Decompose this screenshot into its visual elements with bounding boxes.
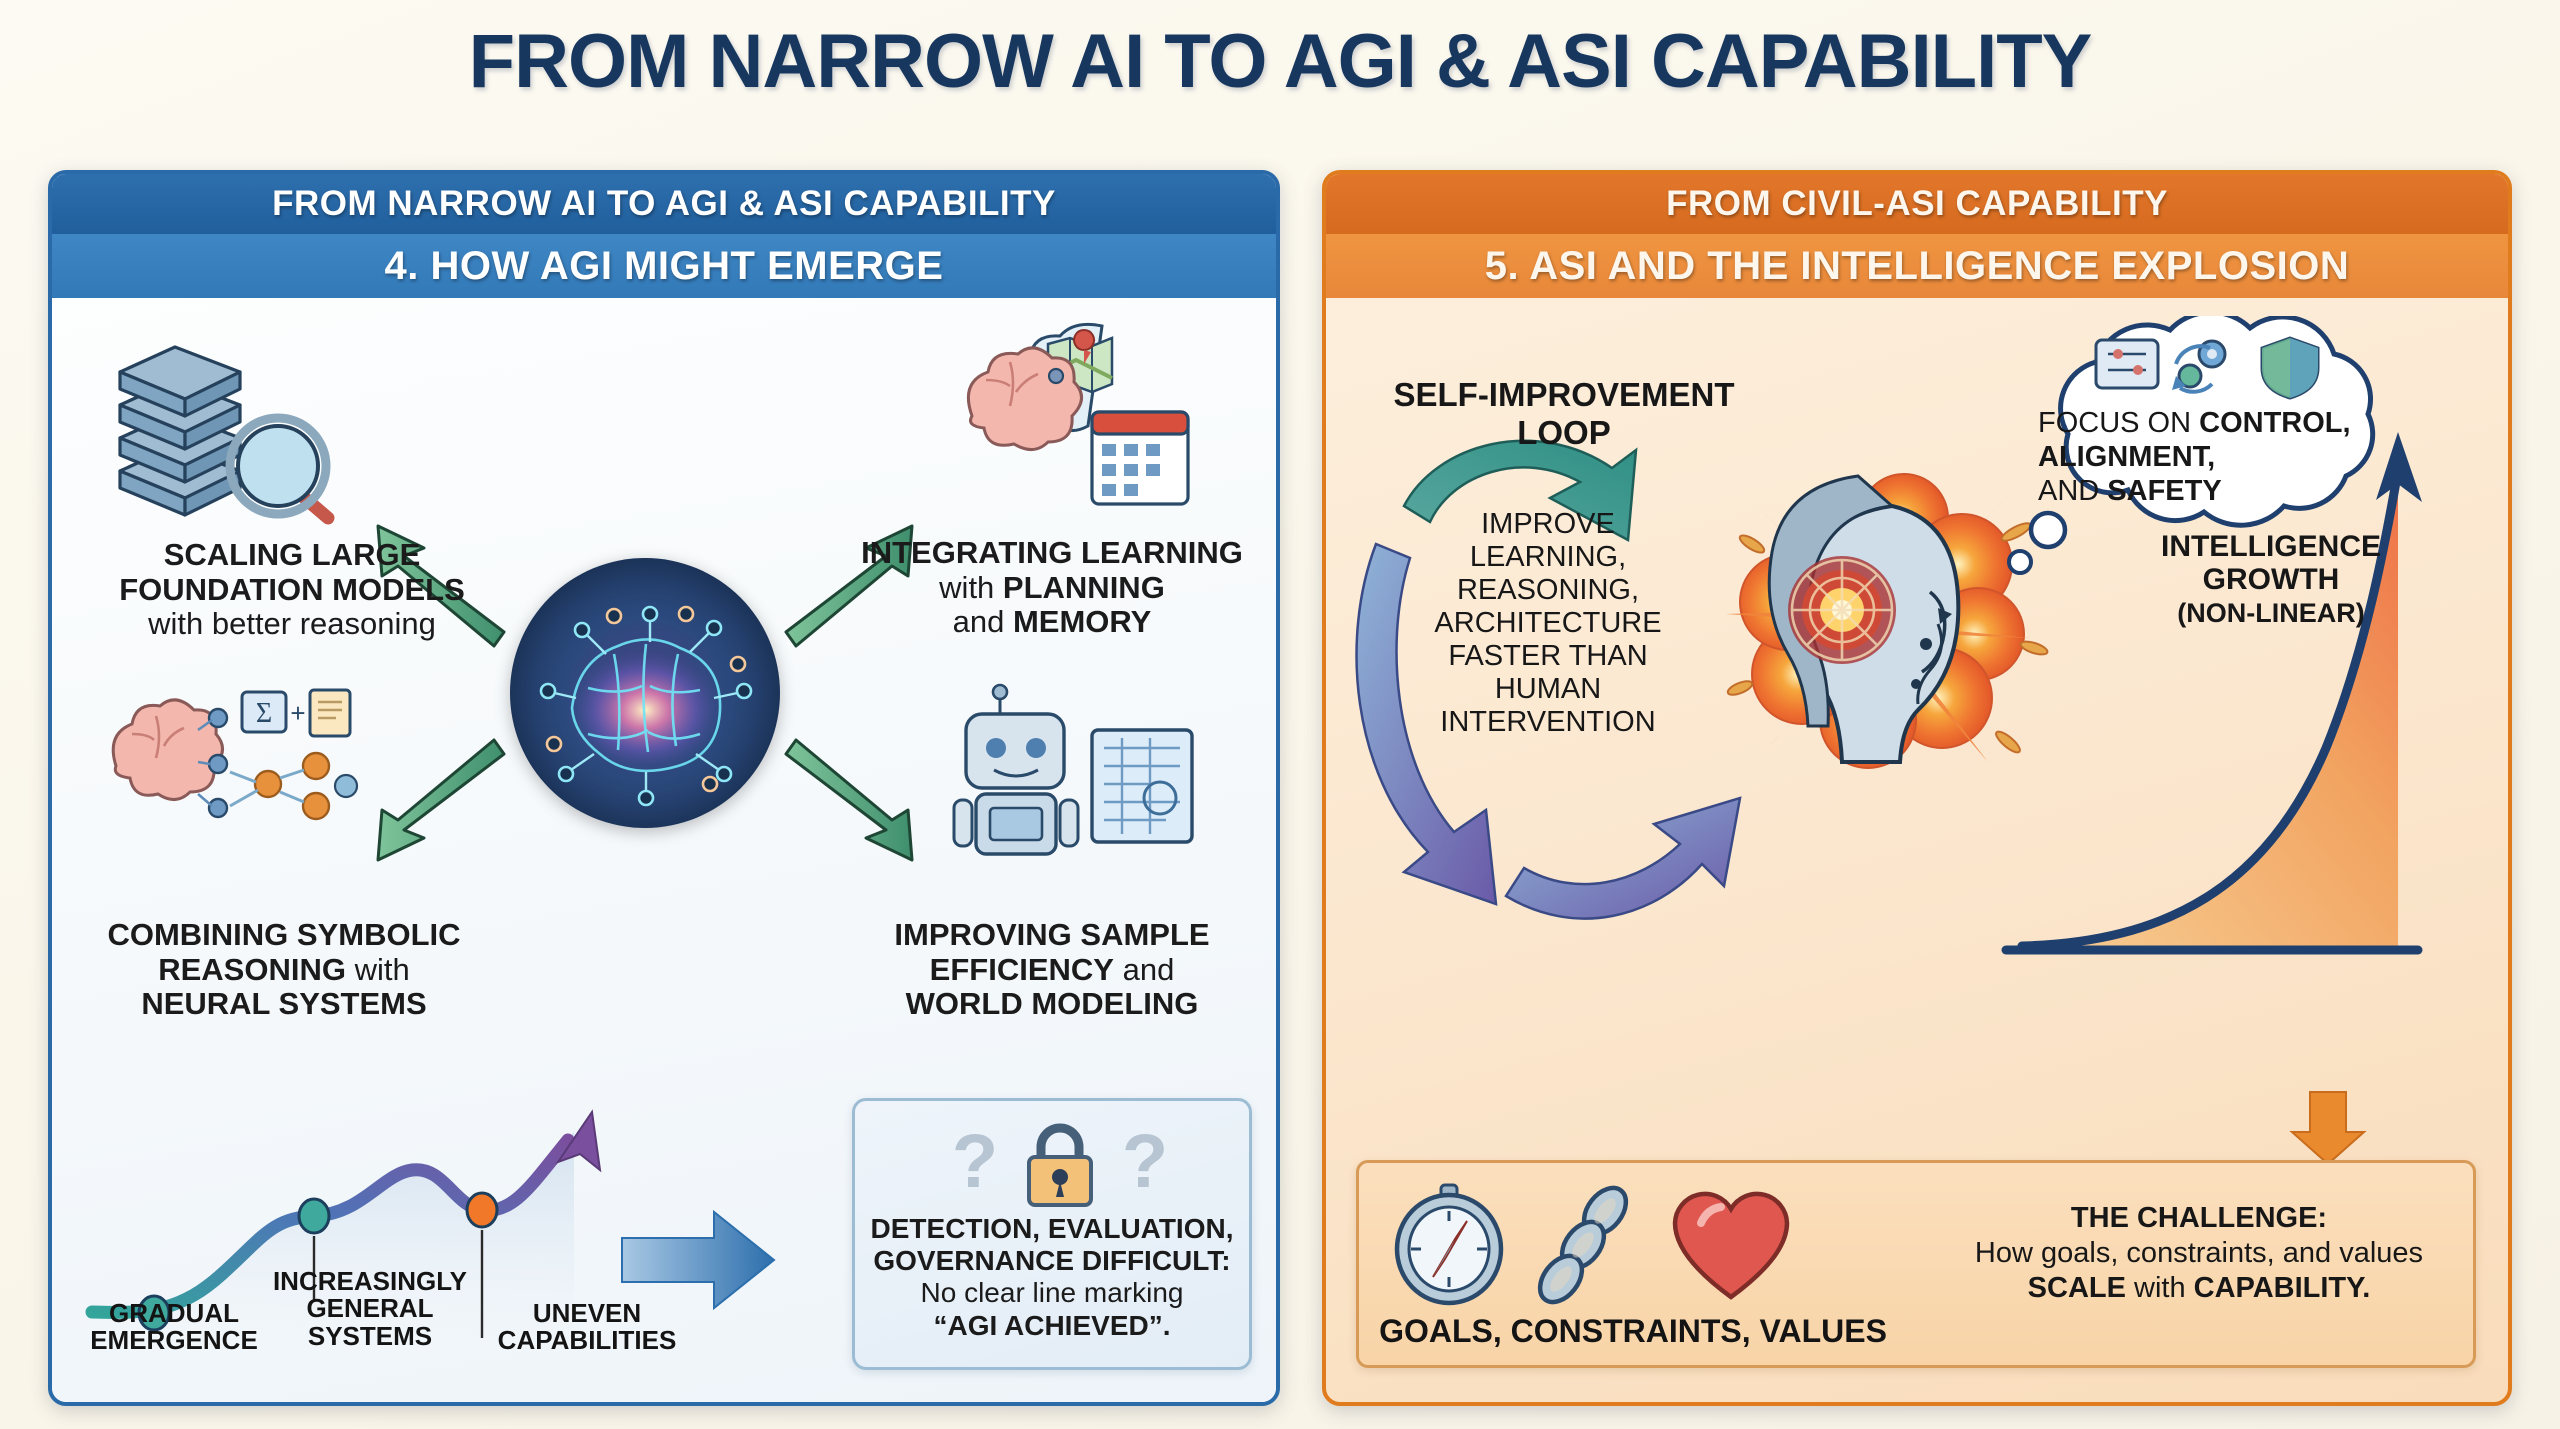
cloud-safety-text: FOCUS ON CONTROL, ALIGNMENT, AND SAFETY bbox=[2038, 406, 2368, 509]
left-panel: FROM NARROW AI TO AGI & ASI CAPABILITY 4… bbox=[48, 170, 1280, 1406]
right-panel-header-sub: 5. ASI AND THE INTELLIGENCE EXPLOSION bbox=[1326, 234, 2508, 298]
gears-cycle-icon bbox=[2172, 341, 2225, 392]
down-arrow-icon bbox=[2288, 1088, 2368, 1168]
chart-label-general: INCREASINGLY GENERAL SYSTEMS bbox=[260, 1268, 480, 1350]
control-panel-icon bbox=[2096, 340, 2158, 388]
question-mark-icon: ? bbox=[1122, 1119, 1168, 1204]
right-panel: FROM CIVIL-ASI CAPABILITY 5. ASI AND THE… bbox=[1322, 170, 2512, 1406]
compass-icon bbox=[1397, 1185, 1501, 1303]
glowing-neural-brain-icon bbox=[510, 558, 780, 828]
symbolic-neural-icon: Σ + bbox=[102, 678, 362, 878]
self-improvement-loop-title: SELF-IMPROVEMENT LOOP bbox=[1374, 376, 1754, 452]
page-title: FROM NARROW AI TO AGI & ASI CAPABILITY bbox=[0, 18, 2560, 105]
gcv-label: GOALS, CONSTRAINTS, VALUES bbox=[1373, 1313, 1893, 1350]
quadrant-caption-integrating: INTEGRATING LEARNING with PLANNING and M… bbox=[842, 536, 1262, 640]
right-panel-header-top: FROM CIVIL-ASI CAPABILITY bbox=[1326, 174, 2508, 234]
padlock-icon bbox=[1029, 1128, 1091, 1205]
governance-callout-text: DETECTION, EVALUATION, GOVERNANCE DIFFIC… bbox=[855, 1213, 1249, 1342]
goals-constraints-values-bar: GOALS, CONSTRAINTS, VALUES THE CHALLENGE… bbox=[1356, 1160, 2476, 1368]
governance-callout-box: ? ? DETECTION, EVALUATION, GOVERNANCE DI… bbox=[852, 1098, 1252, 1370]
gcv-icon-row bbox=[1389, 1181, 1869, 1309]
cloud-icon-row bbox=[2094, 332, 2334, 400]
brain-map-calendar-icon bbox=[952, 316, 1202, 526]
padlock-question-icons: ? ? bbox=[945, 1115, 1175, 1211]
question-mark-icon: ? bbox=[952, 1119, 998, 1204]
quadrant-caption-efficiency: IMPROVING SAMPLE EFFICIENCY and WORLD MO… bbox=[842, 918, 1262, 1022]
left-panel-header-top: FROM NARROW AI TO AGI & ASI CAPABILITY bbox=[52, 174, 1276, 234]
chart-label-uneven: UNEVEN CAPABILITIES bbox=[472, 1300, 702, 1355]
chain-link-icon bbox=[1532, 1181, 1635, 1309]
svg-text:+: + bbox=[290, 698, 305, 728]
left-panel-body: Σ + bbox=[52, 298, 1276, 1406]
svg-text:Σ: Σ bbox=[256, 698, 272, 729]
shield-icon bbox=[2262, 338, 2318, 398]
heart-icon bbox=[1675, 1194, 1787, 1297]
robot-blueprint-icon bbox=[952, 670, 1202, 880]
chart-label-gradual: GRADUAL EMERGENCE bbox=[74, 1300, 274, 1355]
infographic-poster: FROM NARROW AI TO AGI & ASI CAPABILITY F… bbox=[0, 0, 2560, 1429]
challenge-text: THE CHALLENGE: How goals, constraints, a… bbox=[1939, 1201, 2459, 1305]
right-panel-body: SELF-IMPROVEMENT LOOP IMPROVE LEARNING, … bbox=[1326, 298, 2508, 1406]
self-improvement-loop-body: IMPROVE LEARNING, REASONING, ARCHITECTUR… bbox=[1398, 508, 1698, 739]
left-panel-header-sub: 4. HOW AGI MIGHT EMERGE bbox=[52, 234, 1276, 298]
quadrant-caption-symbolic: COMBINING SYMBOLIC REASONING with NEURAL… bbox=[74, 918, 494, 1022]
quadrant-caption-scaling: SCALING LARGE FOUNDATION MODELS with bet… bbox=[82, 538, 502, 642]
growth-label: INTELLIGENCE GROWTH (NON-LINEAR) bbox=[2136, 530, 2406, 629]
server-stack-magnifier-icon bbox=[100, 326, 350, 526]
